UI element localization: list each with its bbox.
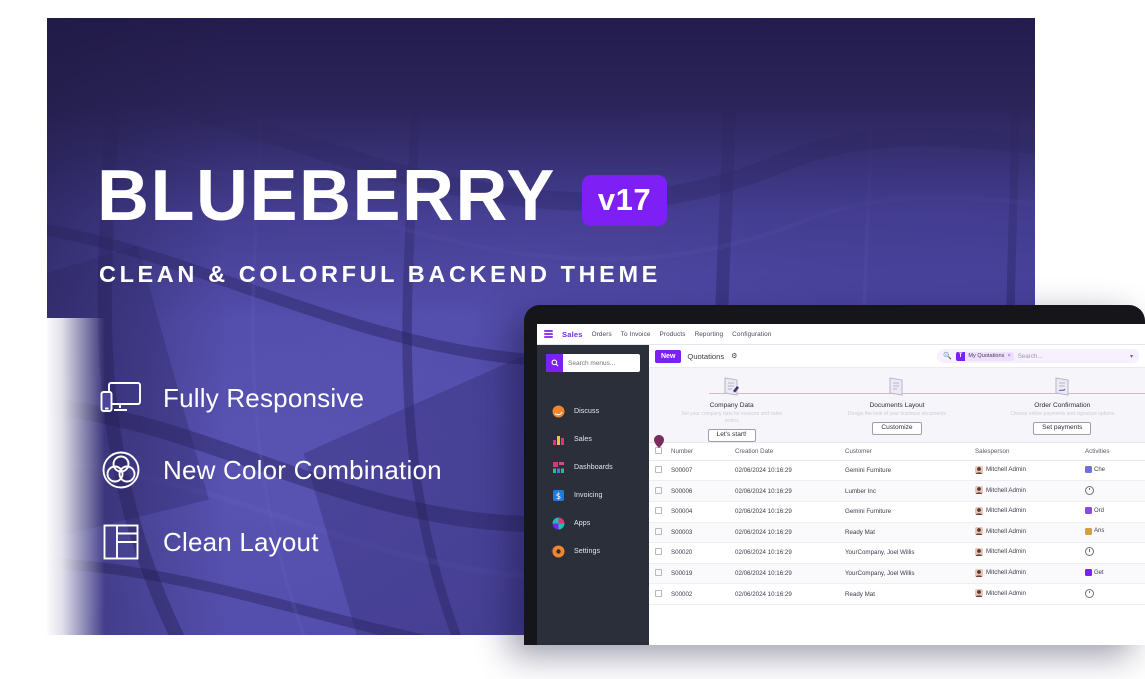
search-icon	[546, 354, 563, 372]
laptop-bezel: Sales Orders To Invoice Products Reporti…	[524, 305, 1145, 645]
cell-number: S00020	[671, 542, 735, 563]
cell-salesperson: Mitchell Admin	[975, 584, 1085, 605]
documents-layout-icon	[884, 374, 909, 399]
cell-number: S00002	[671, 584, 735, 605]
row-checkbox	[649, 542, 671, 563]
table-row[interactable]: S0000602/06/2024 10:16:29Lumber IncMitch…	[649, 481, 1145, 502]
checkbox-icon[interactable]	[655, 528, 662, 535]
sidebar-item-label: Invoicing	[574, 492, 603, 499]
company-data-icon	[719, 374, 744, 399]
hamburger-icon[interactable]	[544, 330, 553, 338]
cell-activities: Ans	[1085, 522, 1145, 542]
feature-item-colors: New Color Combination	[99, 448, 442, 492]
chevron-down-icon[interactable]: ▾	[1130, 353, 1133, 360]
gear-icon[interactable]: ⚙	[731, 352, 737, 360]
table-row[interactable]: S0000402/06/2024 10:16:29Gemini Furnitur…	[649, 502, 1145, 522]
activity-label: Ord	[1094, 508, 1104, 514]
checkbox-icon[interactable]	[655, 507, 662, 514]
topnav-item-configuration[interactable]: Configuration	[732, 331, 771, 338]
cell-activities	[1085, 542, 1145, 563]
promo-banner: BLUEBERRY v17 CLEAN & COLORFUL BACKEND T…	[0, 0, 1145, 679]
cell-customer: YourCompany, Joel Willis	[845, 563, 975, 583]
sidebar-item-apps[interactable]: Apps	[551, 516, 649, 531]
checkbox-icon[interactable]	[655, 447, 662, 454]
onboarding-banner: Company Data Set your company data for i…	[649, 368, 1145, 443]
sidebar-menu: Discuss Sales	[537, 404, 649, 559]
cell-number: S00004	[671, 502, 735, 522]
search-facet[interactable]: T My Quotations ×	[956, 352, 1014, 361]
checkbox-icon[interactable]	[655, 466, 662, 473]
topnav-item-to-invoice[interactable]: To Invoice	[621, 331, 651, 338]
sidebar-item-label: Sales	[574, 436, 592, 443]
cell-number: S00006	[671, 481, 735, 502]
step-action-button[interactable]: Customize	[872, 422, 921, 436]
cell-salesperson: Mitchell Admin	[975, 481, 1085, 502]
cell-activities: Ord	[1085, 502, 1145, 522]
activity-clock-icon[interactable]	[1085, 547, 1094, 556]
facet-label: My Quotations	[968, 353, 1004, 359]
svg-text:$: $	[556, 492, 561, 502]
app-name[interactable]: Sales	[562, 330, 583, 339]
column-header-customer[interactable]: Customer	[845, 443, 975, 461]
magnifier-icon: 🔍	[943, 353, 952, 360]
onboarding-step-documents-layout: Documents Layout Design the look of your…	[814, 368, 979, 442]
table-row[interactable]: S0000302/06/2024 10:16:29Ready MatMitche…	[649, 522, 1145, 542]
sidebar-search[interactable]	[546, 354, 640, 372]
activity-label: Get	[1094, 570, 1104, 576]
feature-label: Clean Layout	[163, 527, 319, 558]
settings-icon	[551, 544, 566, 559]
feature-list: Fully Responsive New Color Combination	[99, 376, 442, 564]
checkbox-icon[interactable]	[655, 487, 662, 494]
layout-grid-icon	[99, 520, 143, 564]
activity-label: Che	[1094, 467, 1105, 473]
main-panel: New Quotations ⚙ 🔍 T My Quotations ×	[649, 345, 1145, 645]
row-checkbox	[649, 481, 671, 502]
sidebar-item-settings[interactable]: Settings	[551, 544, 649, 559]
activity-badge-icon[interactable]	[1085, 528, 1092, 535]
sidebar-item-invoicing[interactable]: $ Invoicing	[551, 488, 649, 503]
activity-clock-icon[interactable]	[1085, 589, 1094, 598]
table-body: S0000702/06/2024 10:16:29Gemini Furnitur…	[649, 461, 1145, 605]
step-description: Choose online payments and signature opt…	[1010, 411, 1114, 418]
step-description: Set your company data for invoices and s…	[679, 411, 784, 425]
cell-creation-date: 02/06/2024 10:16:29	[735, 542, 845, 563]
cell-customer: YourCompany, Joel Willis	[845, 542, 975, 563]
cell-creation-date: 02/06/2024 10:16:29	[735, 584, 845, 605]
cell-activities	[1085, 584, 1145, 605]
sidebar-item-dashboards[interactable]: Dashboards	[551, 460, 649, 475]
avatar	[975, 589, 983, 597]
search-input[interactable]	[563, 359, 640, 368]
control-panel: New Quotations ⚙ 🔍 T My Quotations ×	[649, 345, 1145, 368]
breadcrumb[interactable]: Quotations	[687, 352, 724, 361]
activity-badge-icon[interactable]	[1085, 569, 1092, 576]
table-header-row: Number Creation Date Customer Salesperso…	[649, 443, 1145, 461]
cell-customer: Lumber Inc	[845, 481, 975, 502]
cell-customer: Ready Mat	[845, 584, 975, 605]
step-title: Order Confirmation	[1034, 402, 1090, 409]
feature-label: New Color Combination	[163, 455, 442, 486]
column-header-creation-date[interactable]: Creation Date	[735, 443, 845, 461]
cell-salesperson: Mitchell Admin	[975, 542, 1085, 563]
version-badge: v17	[582, 175, 667, 226]
avatar	[975, 548, 983, 556]
cell-customer: Gemini Furniture	[845, 502, 975, 522]
app-screen: Sales Orders To Invoice Products Reporti…	[537, 324, 1145, 645]
step-title: Company Data	[710, 402, 754, 409]
sidebar-item-label: Apps	[574, 520, 590, 527]
column-header-number[interactable]: Number	[671, 443, 735, 461]
onboarding-step-company-data: Company Data Set your company data for i…	[649, 368, 814, 442]
responsive-devices-icon	[99, 376, 143, 420]
cell-number: S00003	[671, 522, 735, 542]
sidebar-item-label: Settings	[574, 548, 600, 555]
cell-salesperson: Mitchell Admin	[975, 563, 1085, 583]
activity-clock-icon[interactable]	[1085, 486, 1094, 495]
sidebar-item-sales[interactable]: Sales	[551, 432, 649, 447]
cell-creation-date: 02/06/2024 10:16:29	[735, 563, 845, 583]
onboarding-step-order-confirmation: Order Confirmation Choose online payment…	[980, 368, 1145, 442]
table-row[interactable]: S0000202/06/2024 10:16:29Ready MatMitche…	[649, 584, 1145, 605]
sales-icon	[551, 432, 566, 447]
search-placeholder[interactable]: Search...	[1018, 353, 1043, 360]
row-checkbox	[649, 461, 671, 481]
avatar	[975, 569, 983, 577]
topnav-item-products[interactable]: Products	[660, 331, 686, 338]
dashboards-icon	[551, 460, 566, 475]
cell-creation-date: 02/06/2024 10:16:29	[735, 461, 845, 481]
avatar	[975, 527, 983, 535]
topnav-item-orders[interactable]: Orders	[592, 331, 612, 338]
facet-badge: T	[956, 352, 966, 361]
sidebar-item-label: Discuss	[574, 408, 599, 415]
facet-remove-icon[interactable]: ×	[1007, 353, 1010, 359]
search-bar[interactable]: 🔍 T My Quotations × Search... ▾	[937, 349, 1139, 363]
table-row[interactable]: S0002002/06/2024 10:16:29YourCompany, Jo…	[649, 542, 1145, 563]
quotations-table: Number Creation Date Customer Salesperso…	[649, 443, 1145, 645]
column-header-activities[interactable]: Activities	[1085, 443, 1145, 461]
activity-label: Ans	[1094, 528, 1104, 534]
discuss-icon	[551, 404, 566, 419]
subtitle: CLEAN & COLORFUL BACKEND THEME	[99, 261, 661, 288]
apps-icon	[551, 516, 566, 531]
cell-activities: Get	[1085, 563, 1145, 583]
cell-number: S00019	[671, 563, 735, 583]
facet-value: My Quotations ×	[965, 352, 1013, 361]
app-topnav: Sales Orders To Invoice Products Reporti…	[537, 324, 1145, 345]
step-title: Documents Layout	[870, 402, 925, 409]
row-checkbox	[649, 502, 671, 522]
avatar	[975, 486, 983, 494]
cell-activities: Che	[1085, 461, 1145, 481]
cell-creation-date: 02/06/2024 10:16:29	[735, 481, 845, 502]
checkbox-icon[interactable]	[655, 590, 662, 597]
feature-item-layout: Clean Layout	[99, 520, 442, 564]
topnav-item-reporting[interactable]: Reporting	[695, 331, 724, 338]
cell-activities	[1085, 481, 1145, 502]
cell-creation-date: 02/06/2024 10:16:29	[735, 522, 845, 542]
checkbox-icon[interactable]	[655, 569, 662, 576]
avatar	[975, 466, 983, 474]
table-row[interactable]: S0001902/06/2024 10:16:29YourCompany, Jo…	[649, 563, 1145, 583]
avatar	[975, 507, 983, 515]
new-button[interactable]: New	[655, 350, 681, 363]
laptop-mockup: Sales Orders To Invoice Products Reporti…	[524, 305, 1145, 679]
cell-number: S00007	[671, 461, 735, 481]
order-confirmation-icon	[1050, 374, 1075, 399]
step-action-button[interactable]: Let's start!	[708, 429, 756, 443]
feature-item-responsive: Fully Responsive	[99, 376, 442, 420]
cell-customer: Ready Mat	[845, 522, 975, 542]
activity-badge-icon[interactable]	[1085, 466, 1092, 473]
activity-badge-icon[interactable]	[1085, 507, 1092, 514]
cell-salesperson: Mitchell Admin	[975, 522, 1085, 542]
cell-salesperson: Mitchell Admin	[975, 502, 1085, 522]
invoicing-icon: $	[551, 488, 566, 503]
row-checkbox	[649, 584, 671, 605]
feature-label: Fully Responsive	[163, 383, 364, 414]
sidebar: Discuss Sales	[537, 345, 649, 645]
row-checkbox	[649, 522, 671, 542]
table-row[interactable]: S0000702/06/2024 10:16:29Gemini Furnitur…	[649, 461, 1145, 481]
location-pin-icon	[654, 435, 664, 448]
row-checkbox	[649, 563, 671, 583]
sidebar-item-label: Dashboards	[574, 464, 613, 471]
checkbox-icon[interactable]	[655, 548, 662, 555]
step-action-button[interactable]: Set payments	[1033, 422, 1091, 436]
cell-customer: Gemini Furniture	[845, 461, 975, 481]
cell-creation-date: 02/06/2024 10:16:29	[735, 502, 845, 522]
page-title: BLUEBERRY	[97, 160, 556, 232]
column-header-salesperson[interactable]: Salesperson	[975, 443, 1085, 461]
title-block: BLUEBERRY v17	[97, 160, 667, 232]
cell-salesperson: Mitchell Admin	[975, 461, 1085, 481]
sidebar-item-discuss[interactable]: Discuss	[551, 404, 649, 419]
color-circles-icon	[99, 448, 143, 492]
step-description: Design the look of your business documen…	[848, 411, 946, 418]
